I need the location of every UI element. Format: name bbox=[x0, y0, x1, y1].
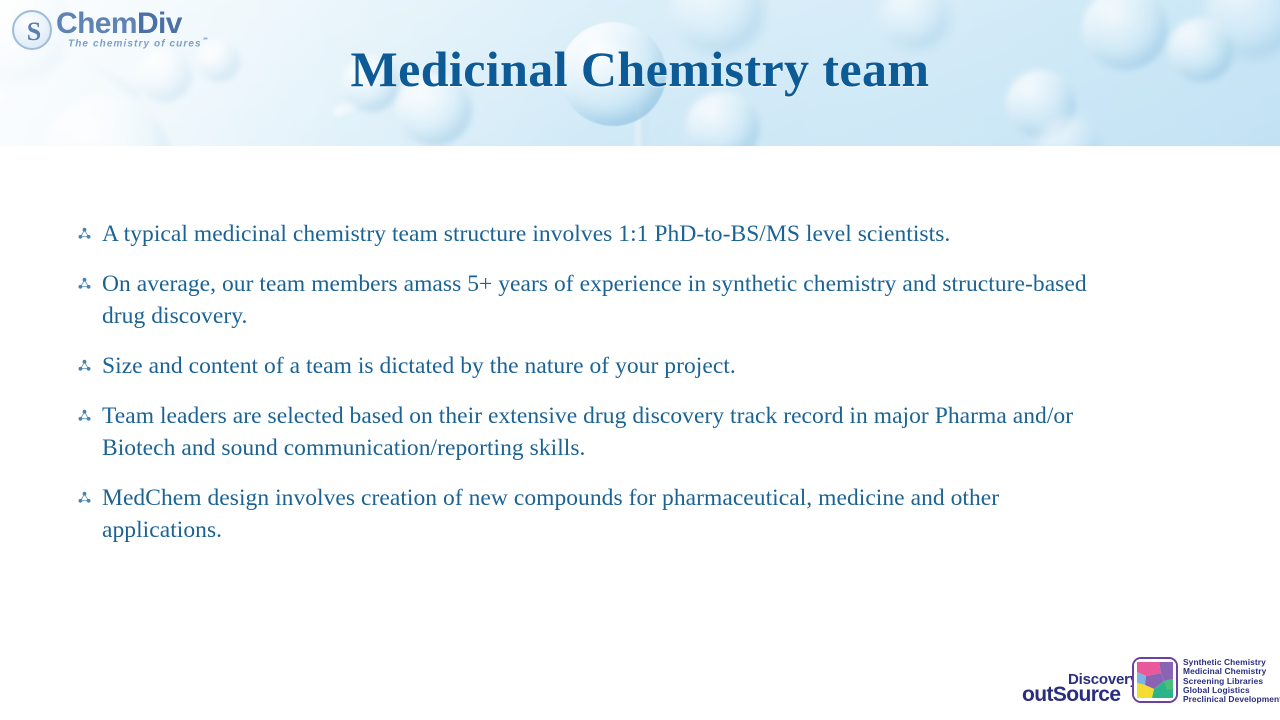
outsource-label-source: Source bbox=[1053, 683, 1121, 706]
chemdiv-tagline: The chemistry of cures℠ bbox=[68, 37, 208, 49]
list-item-text: A typical medicinal chemistry team struc… bbox=[102, 218, 1088, 250]
slide-header-band: S ChemDiv The chemistry of cures℠ Medici… bbox=[0, 0, 1280, 146]
list-item: MedChem design involves creation of new … bbox=[78, 482, 1088, 546]
list-item-text: Size and content of a team is dictated b… bbox=[102, 350, 1088, 382]
outsource-wordmark: outSource bbox=[1022, 683, 1120, 707]
list-item: On average, our team members amass 5+ ye… bbox=[78, 268, 1088, 332]
services-list: Synthetic Chemistry Medicinal Chemistry … bbox=[1183, 658, 1280, 704]
outsource-badge-icon bbox=[1132, 657, 1178, 703]
list-item: A typical medicinal chemistry team struc… bbox=[78, 218, 1088, 250]
outsource-label-out: out bbox=[1022, 683, 1053, 706]
molecule-bullet-icon bbox=[78, 482, 102, 504]
chemdiv-wordmark-chem: Chem bbox=[56, 7, 137, 40]
chemdiv-mark-letter: S bbox=[23, 20, 45, 44]
discovery-outsource-logo[interactable]: Discovery™ outSource Synthetic Chemistry… bbox=[1020, 655, 1278, 707]
chemdiv-tagline-text: The chemistry of cures bbox=[68, 38, 202, 49]
services-item: Preclinical Development bbox=[1183, 695, 1280, 704]
chemdiv-wordmark: ChemDiv bbox=[56, 7, 182, 41]
molecule-bullet-icon bbox=[78, 268, 102, 290]
chemdiv-swirl-icon: S bbox=[12, 10, 52, 50]
chemdiv-wordmark-div: Div bbox=[137, 7, 182, 40]
list-item: Size and content of a team is dictated b… bbox=[78, 350, 1088, 382]
molecule-bullet-icon bbox=[78, 218, 102, 240]
chemdiv-service-mark: ℠ bbox=[202, 38, 208, 44]
chemdiv-logo[interactable]: S ChemDiv The chemistry of cures℠ bbox=[10, 6, 220, 52]
list-item-text: MedChem design involves creation of new … bbox=[102, 482, 1088, 546]
list-item: Team leaders are selected based on their… bbox=[78, 400, 1088, 464]
list-item-text: Team leaders are selected based on their… bbox=[102, 400, 1088, 464]
list-item-text: On average, our team members amass 5+ ye… bbox=[102, 268, 1088, 332]
molecule-bullet-icon bbox=[78, 400, 102, 422]
molecule-bullet-icon bbox=[78, 350, 102, 372]
bullet-list: A typical medicinal chemistry team struc… bbox=[78, 218, 1088, 564]
